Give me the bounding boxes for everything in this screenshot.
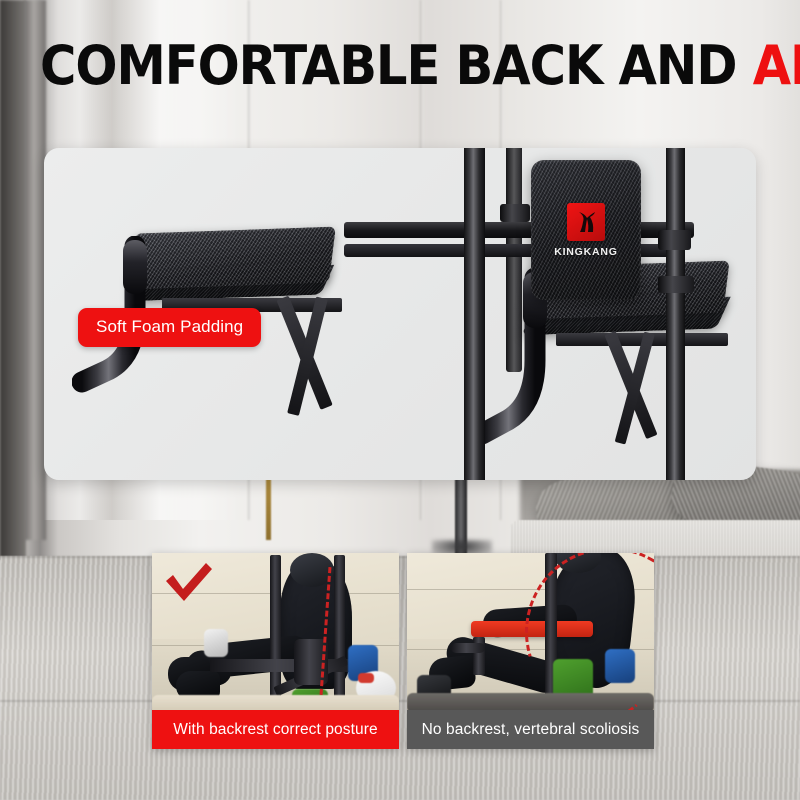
steel-frame-post	[464, 148, 485, 480]
frame-collar	[658, 276, 694, 293]
equipment-knob	[204, 629, 228, 657]
kingkang-k-logo-icon	[567, 203, 605, 241]
headline-black-part: COMFORTABLE BACK AND	[40, 34, 753, 97]
steel-frame-post	[666, 148, 685, 480]
page-title: COMFORTABLE BACK AND ARM REST	[40, 38, 781, 94]
red-checkmark-icon	[162, 561, 216, 603]
frame-collar	[658, 230, 691, 250]
caption-no-backrest: No backrest, vertebral scoliosis	[407, 710, 654, 749]
backrest-pad: KINGKANG	[531, 160, 641, 300]
photo-no-backrest	[407, 553, 654, 710]
comparison-card-with-backrest: With backrest correct posture	[152, 553, 399, 749]
caption-with-backrest: With backrest correct posture	[152, 710, 399, 749]
floor-mat	[152, 695, 399, 710]
brand-wordmark: KINGKANG	[554, 246, 618, 258]
product-feature-graphic: COMFORTABLE BACK AND ARM REST	[0, 0, 800, 800]
photo-with-backrest	[152, 553, 399, 710]
equipment-post	[334, 555, 345, 710]
posture-comparison: With backrest correct posture	[152, 553, 654, 749]
headline-red-part: ARM REST	[753, 34, 800, 97]
comparison-card-no-backrest: No backrest, vertebral scoliosis	[407, 553, 654, 749]
frame-collar	[500, 204, 530, 222]
soft-foam-padding-callout: Soft Foam Padding	[78, 308, 261, 347]
door-frame-outer	[0, 0, 26, 560]
clutter-detail	[358, 673, 374, 683]
frame-crossbar	[344, 222, 694, 238]
